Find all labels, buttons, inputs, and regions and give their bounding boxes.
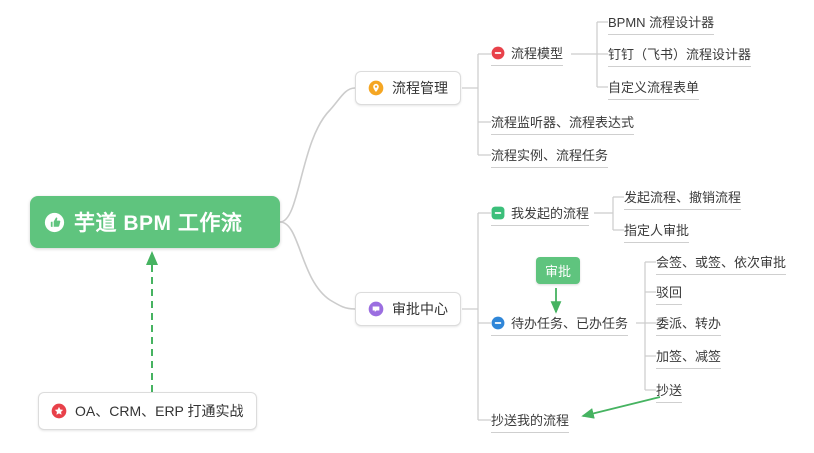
star-circle-icon: [51, 403, 67, 419]
root-label: 芋道 BPM 工作流: [74, 207, 242, 237]
root-node[interactable]: 芋道 BPM 工作流: [30, 196, 280, 248]
branch-label-process-management: 流程管理: [392, 78, 448, 98]
leaf-assign-approver[interactable]: 指定人审批: [624, 220, 689, 243]
thumbs-up-icon: [44, 212, 65, 233]
minus-square-icon: [491, 206, 505, 220]
leaf-todo-done-tasks[interactable]: 待办任务、已办任务: [491, 313, 628, 336]
branch-node-process-management[interactable]: 流程管理: [355, 71, 461, 105]
leaf-delegate-transfer[interactable]: 委派、转办: [656, 313, 721, 336]
leaf-reject[interactable]: 驳回: [656, 282, 682, 305]
leaf-add-remove-sign[interactable]: 加签、减签: [656, 346, 721, 369]
leaf-label-my-initiated-process: 我发起的流程: [511, 203, 589, 222]
location-pin-icon: [368, 80, 384, 96]
leaf-bpmn-designer[interactable]: BPMN 流程设计器: [608, 12, 714, 35]
leaf-cc[interactable]: 抄送: [656, 380, 682, 403]
leaf-custom-form[interactable]: 自定义流程表单: [608, 77, 699, 100]
approve-pill: 审批: [536, 257, 580, 284]
minus-circle-icon: [491, 46, 505, 60]
chat-circle-icon: [368, 301, 384, 317]
callout-label: OA、CRM、ERP 打通实战: [75, 401, 244, 421]
minus-circle-blue-icon: [491, 316, 505, 330]
leaf-listener-expression[interactable]: 流程监听器、流程表达式: [491, 112, 634, 135]
leaf-cc-to-me[interactable]: 抄送我的流程: [491, 410, 569, 433]
leaf-process-model[interactable]: 流程模型: [491, 43, 563, 66]
leaf-instance-task[interactable]: 流程实例、流程任务: [491, 145, 608, 168]
leaf-dingtalk-designer[interactable]: 钉钉（飞书）流程设计器: [608, 44, 751, 67]
leaf-label-process-model: 流程模型: [511, 43, 563, 62]
branch-label-approval-center: 审批中心: [392, 299, 448, 319]
leaf-countersign[interactable]: 会签、或签、依次审批: [656, 252, 786, 275]
mindmap-canvas: 芋道 BPM 工作流 流程管理 流程模型 BPMN 流程设计器 钉钉（飞书）流程…: [0, 0, 814, 453]
leaf-my-initiated-process[interactable]: 我发起的流程: [491, 203, 589, 226]
leaf-label-todo-done-tasks: 待办任务、已办任务: [511, 313, 628, 332]
callout-card[interactable]: OA、CRM、ERP 打通实战: [38, 392, 257, 430]
branch-node-approval-center[interactable]: 审批中心: [355, 292, 461, 326]
leaf-start-cancel-process[interactable]: 发起流程、撤销流程: [624, 187, 741, 210]
